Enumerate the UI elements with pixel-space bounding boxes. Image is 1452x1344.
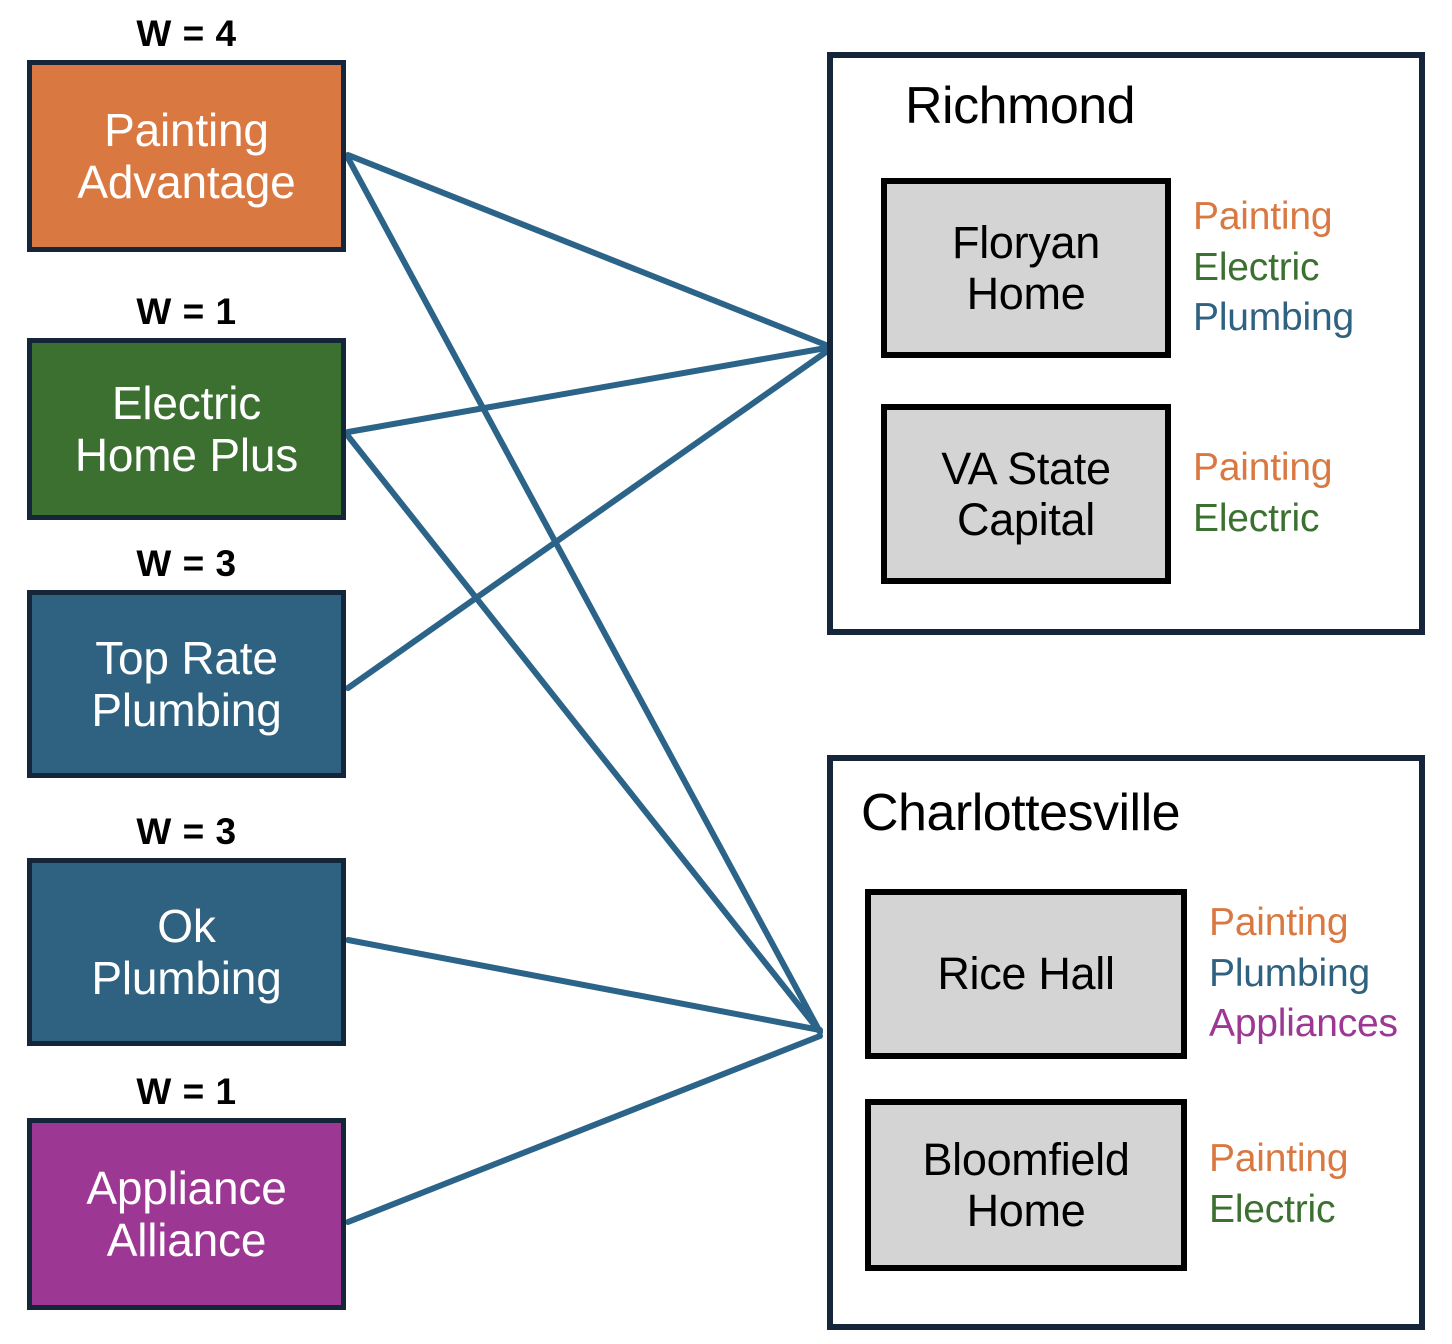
- service-tag: Painting: [1193, 443, 1332, 494]
- service-tag: Plumbing: [1193, 293, 1354, 344]
- site-name-line: Capital: [957, 494, 1095, 545]
- site-name-line: Rice Hall: [937, 948, 1114, 999]
- site-name-line: Home: [967, 268, 1086, 319]
- site-service-list: PaintingElectric: [1193, 443, 1332, 544]
- provider-weight-label: W = 1: [27, 1071, 346, 1113]
- site-box[interactable]: BloomfieldHome: [865, 1099, 1187, 1271]
- edge-line: [348, 155, 826, 345]
- edge-line: [348, 348, 826, 432]
- provider-node[interactable]: Top RatePlumbing: [27, 590, 346, 778]
- edge-line: [348, 940, 820, 1030]
- provider-weight-label: W = 1: [27, 291, 346, 333]
- provider-name-line: Plumbing: [91, 952, 281, 1004]
- edge-line: [348, 1036, 820, 1222]
- site-row: Rice HallPaintingPlumbingAppliances: [865, 889, 1398, 1059]
- provider-node[interactable]: PaintingAdvantage: [27, 60, 346, 252]
- site-name-line: Floryan: [952, 217, 1100, 268]
- site-box[interactable]: Rice Hall: [865, 889, 1187, 1059]
- edge-line: [348, 436, 820, 1032]
- service-tag: Electric: [1193, 243, 1354, 294]
- diagram-canvas: W = 4PaintingAdvantageW = 1ElectricHome …: [0, 0, 1452, 1344]
- city-title: Charlottesville: [861, 783, 1180, 843]
- provider-name-line: Plumbing: [91, 684, 281, 736]
- site-name-line: Home: [967, 1185, 1086, 1236]
- service-tag: Plumbing: [1209, 949, 1398, 1000]
- site-row: VA StateCapitalPaintingElectric: [881, 404, 1332, 584]
- provider-node[interactable]: ElectricHome Plus: [27, 338, 346, 520]
- city-panel[interactable]: CharlottesvilleRice HallPaintingPlumbing…: [827, 755, 1425, 1330]
- site-name-line: Bloomfield: [922, 1134, 1129, 1185]
- provider-name-line: Ok: [157, 900, 215, 952]
- edge-line: [348, 158, 820, 1032]
- provider-name-line: Appliance: [86, 1162, 286, 1214]
- provider-name-line: Electric: [112, 377, 261, 429]
- site-service-list: PaintingElectricPlumbing: [1193, 192, 1354, 344]
- provider-name-line: Painting: [104, 104, 269, 156]
- site-box[interactable]: VA StateCapital: [881, 404, 1171, 584]
- provider-name-line: Top Rate: [95, 632, 278, 684]
- service-tag: Appliances: [1209, 999, 1398, 1050]
- provider-name-line: Home Plus: [75, 429, 298, 481]
- site-box[interactable]: FloryanHome: [881, 178, 1171, 358]
- provider-name-line: Advantage: [77, 156, 295, 208]
- provider-node[interactable]: ApplianceAlliance: [27, 1118, 346, 1310]
- service-tag: Painting: [1209, 1134, 1348, 1185]
- provider-node[interactable]: OkPlumbing: [27, 858, 346, 1046]
- service-tag: Painting: [1209, 898, 1398, 949]
- service-tag: Electric: [1209, 1185, 1348, 1236]
- city-panel[interactable]: RichmondFloryanHomePaintingElectricPlumb…: [827, 52, 1425, 635]
- provider-weight-label: W = 4: [27, 13, 346, 55]
- provider-weight-label: W = 3: [27, 811, 346, 853]
- site-row: FloryanHomePaintingElectricPlumbing: [881, 178, 1354, 358]
- provider-name-line: Alliance: [107, 1214, 267, 1266]
- provider-weight-label: W = 3: [27, 543, 346, 585]
- site-service-list: PaintingPlumbingAppliances: [1209, 898, 1398, 1050]
- service-tag: Electric: [1193, 494, 1332, 545]
- site-service-list: PaintingElectric: [1209, 1134, 1348, 1235]
- site-row: BloomfieldHomePaintingElectric: [865, 1099, 1348, 1271]
- service-tag: Painting: [1193, 192, 1354, 243]
- city-title: Richmond: [905, 76, 1135, 136]
- site-name-line: VA State: [941, 443, 1110, 494]
- edge-line: [348, 352, 826, 688]
